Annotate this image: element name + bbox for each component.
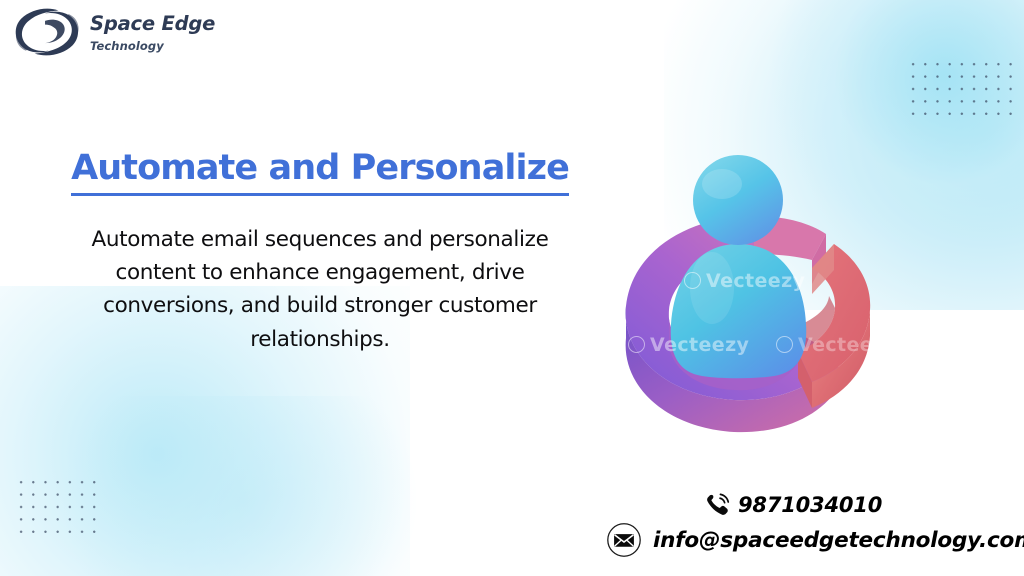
email-address: info@spaceedgetechnology.com bbox=[653, 528, 1024, 553]
contact-phone-row[interactable]: 9871034010 bbox=[600, 492, 1024, 518]
envelope-icon bbox=[606, 522, 642, 558]
brand-name: Space Edge bbox=[90, 14, 215, 34]
brand-logo[interactable]: Space Edge Technology bbox=[12, 6, 215, 58]
brand-wordmark: Space Edge Technology bbox=[90, 12, 215, 53]
phone-number: 9871034010 bbox=[738, 493, 882, 517]
dot-grid-bottom-left bbox=[14, 475, 100, 537]
contact-block: 9871034010 info@spaceedgetechnology.com bbox=[600, 492, 1024, 558]
brand-tagline: Technology bbox=[90, 41, 215, 53]
copy-block: Automate and Personalize Automate email … bbox=[60, 150, 580, 378]
donut-chart-person-graphic bbox=[586, 138, 892, 434]
bottom-left-gradient-accent bbox=[60, 396, 420, 576]
body-paragraph: Automate email sequences and personalize… bbox=[60, 223, 580, 356]
dot-grid-top-right bbox=[906, 57, 1016, 119]
contact-email-row[interactable]: info@spaceedgetechnology.com bbox=[600, 522, 1024, 558]
page-title: Automate and Personalize bbox=[71, 150, 569, 196]
slide-canvas: Space Edge Technology Automate and Perso… bbox=[0, 0, 1024, 576]
phone-icon bbox=[704, 492, 730, 518]
illustration-3d-person-donut-chart: Vecteezy Vecteezy Vecteezy bbox=[586, 138, 892, 434]
space-edge-swirl-logo-icon bbox=[12, 6, 84, 58]
